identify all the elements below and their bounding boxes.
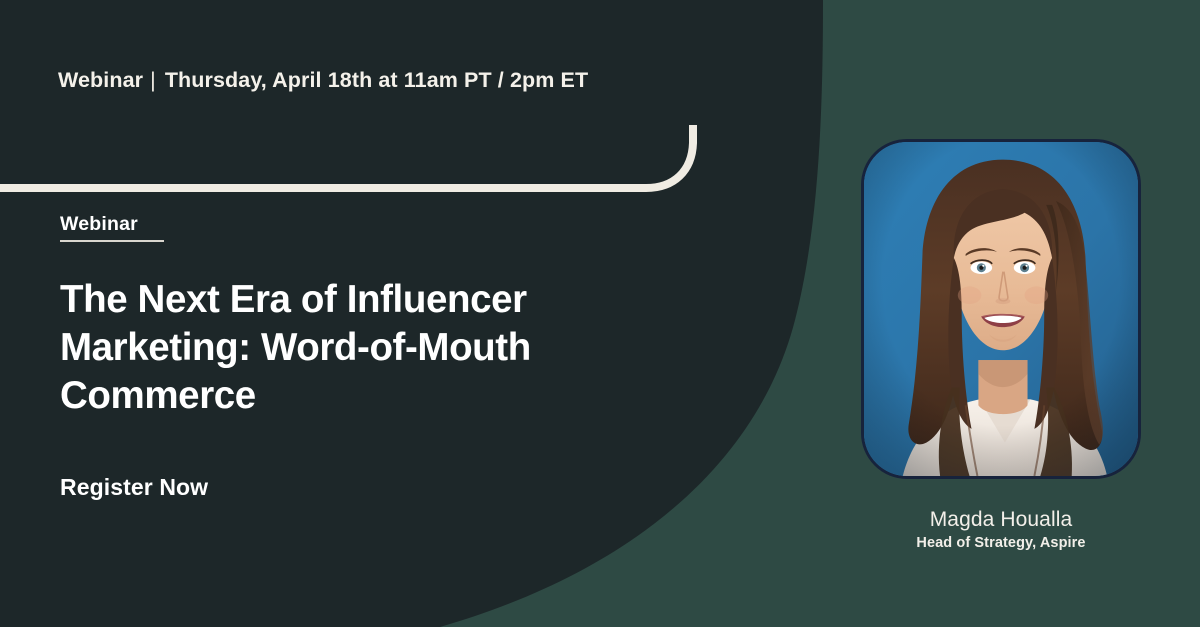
banner-label: Webinar [58, 68, 143, 92]
speaker-role: Head of Strategy, Aspire [861, 533, 1141, 554]
eyebrow-block: Webinar [60, 212, 164, 242]
speaker-portrait-image [864, 142, 1138, 476]
eyebrow-underline [60, 240, 164, 242]
page-title: The Next Era of Influencer Marketing: Wo… [60, 276, 680, 420]
banner-separator: | [143, 60, 165, 100]
banner-text: Webinar|Thursday, April 18th at 11am PT … [58, 60, 588, 100]
eyebrow-label: Webinar [60, 212, 164, 236]
banner-datetime: Thursday, April 18th at 11am PT / 2pm ET [165, 68, 588, 92]
top-banner: Webinar|Thursday, April 18th at 11am PT … [0, 60, 720, 135]
speaker-photo-frame [861, 139, 1141, 479]
register-now-button[interactable]: Register Now [60, 472, 208, 502]
webinar-promo-banner: Webinar|Thursday, April 18th at 11am PT … [0, 0, 1200, 627]
speaker-caption: Magda Houalla Head of Strategy, Aspire [861, 506, 1141, 554]
speaker-name: Magda Houalla [861, 506, 1141, 533]
